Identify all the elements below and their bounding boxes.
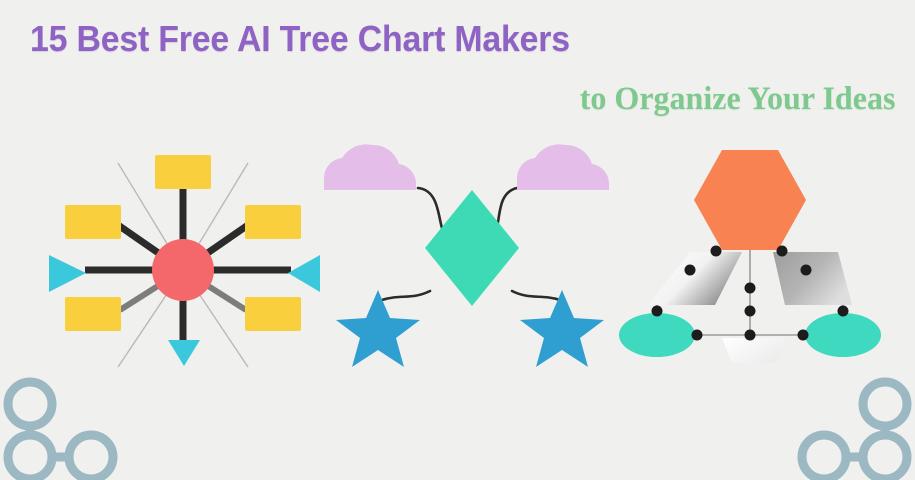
hub-box-upper-right (245, 205, 301, 239)
promo-banner: 15 Best Free AI Tree Chart Makers to Org… (0, 0, 915, 480)
flowchart-ellipse-right (805, 313, 881, 357)
hub-center-circle (152, 239, 214, 301)
hub-box-upper-left (65, 205, 121, 239)
hub-box-top (155, 155, 211, 189)
hub-box-lower-left (65, 297, 121, 331)
flowchart-ellipse-left (619, 313, 695, 357)
hub-box-lower-right (245, 297, 301, 331)
banner-artwork (0, 0, 915, 480)
